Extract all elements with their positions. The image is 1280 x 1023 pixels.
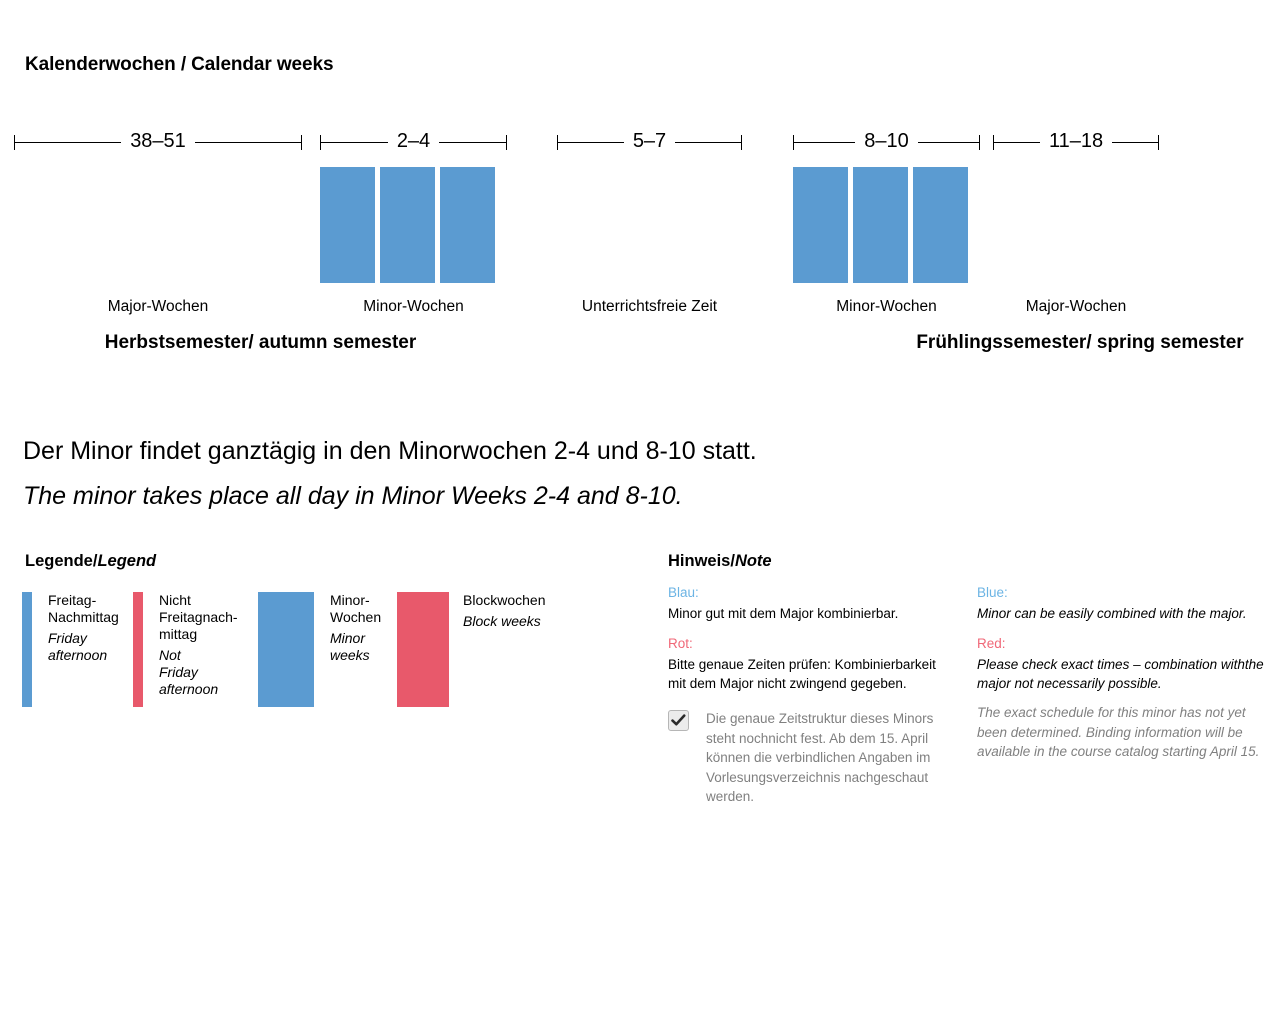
legend-label-english: Minor <box>330 630 381 647</box>
minor-week-block <box>320 167 375 283</box>
week-range-bracket: 11–18 <box>993 130 1159 154</box>
bracket-cap-right <box>1158 135 1159 150</box>
legend-item: BlockwochenBlock weeks <box>397 592 517 707</box>
minor-week-block <box>380 167 435 283</box>
note-heading-german: Hinweis/ <box>668 552 735 570</box>
bracket-cap-right <box>506 135 507 150</box>
week-range-bracket: 8–10 <box>793 130 980 154</box>
bracket-rule-left <box>994 142 1040 143</box>
bracket-rule-left <box>321 142 388 143</box>
legend-label-german: Nicht <box>159 592 238 609</box>
legend-item-text: Freitag-NachmittagFridayafternoon <box>48 592 119 664</box>
note-blue-body-german: Minor gut mit dem Major kombinierbar. <box>668 604 936 623</box>
week-range-label: 38–51 <box>121 131 195 151</box>
week-range-label: 5–7 <box>624 131 675 151</box>
legend-label-english: Not <box>159 647 238 664</box>
semester-label: Frühlingssemester/ spring semester <box>700 332 1280 354</box>
semester-label: Herbstsemester/ autumn semester <box>14 332 507 354</box>
legend-heading: Legende/Legend <box>25 552 156 571</box>
timeline-group-5: 11–18Major-Wochen <box>993 130 1159 154</box>
legend-item-text: BlockwochenBlock weeks <box>463 592 546 630</box>
page-title: Kalenderwochen / Calendar weeks <box>25 54 333 76</box>
timeline-group-2: 2–4Minor-Wochen <box>320 130 507 154</box>
week-range-label: 8–10 <box>855 131 918 151</box>
minor-week-block <box>440 167 495 283</box>
legend-color-swatch <box>22 592 32 707</box>
legend-label-german: mittag <box>159 626 238 643</box>
legend-color-swatch <box>133 592 143 707</box>
legend-item: Freitag-NachmittagFridayafternoon <box>22 592 142 707</box>
note-blue-key-german: Blau: <box>668 584 936 602</box>
note-red-body-english: Please check exact times – combination w… <box>977 655 1267 693</box>
legend-item: NichtFreitagnach-mittagNotFridayafternoo… <box>133 592 253 707</box>
bracket-rule-right <box>918 142 979 143</box>
schedule-pending-text-german: Die genaue Zeitstruktur dieses Minors st… <box>706 709 943 807</box>
bracket-rule-right <box>675 142 741 143</box>
schedule-pending-checkbox[interactable] <box>668 710 689 731</box>
legend-heading-english: Legend <box>97 552 156 570</box>
legend-label-english: afternoon <box>159 681 238 698</box>
week-range-label: 11–18 <box>1040 131 1112 151</box>
statement-german: Der Minor findet ganztägig in den Minorw… <box>23 437 757 466</box>
note-red-body-german: Bitte genaue Zeiten prüfen: Kombinierbar… <box>668 655 936 693</box>
legend-heading-german: Legende/ <box>25 552 97 570</box>
check-icon <box>671 714 686 727</box>
legend-label-english: weeks <box>330 647 381 664</box>
bracket-cap-right <box>741 135 742 150</box>
note-blue-body-english: Minor can be easily combined with the ma… <box>977 604 1267 623</box>
bracket-rule-right <box>1112 142 1158 143</box>
bracket-rule-left <box>794 142 855 143</box>
note-column-english: Blue: Minor can be easily combined with … <box>977 584 1267 705</box>
legend-label-german: Wochen <box>330 609 381 626</box>
legend-label-english: Friday <box>159 664 238 681</box>
bracket-rule-right <box>195 142 301 143</box>
phase-label: Unterrichtsfreie Zeit <box>557 298 742 316</box>
week-range-bracket: 5–7 <box>557 130 742 154</box>
week-range-bracket: 2–4 <box>320 130 507 154</box>
minor-week-block <box>793 167 848 283</box>
note-red-key-german: Rot: <box>668 635 936 653</box>
minor-week-blocks <box>793 167 968 283</box>
legend-label-german: Minor- <box>330 592 381 609</box>
note-heading: Hinweis/Note <box>668 552 772 571</box>
minor-week-block <box>913 167 968 283</box>
phase-label: Minor-Wochen <box>320 298 507 316</box>
phase-label: Major-Wochen <box>993 298 1159 316</box>
legend-label-german: Freitag- <box>48 592 119 609</box>
bracket-cap-right <box>979 135 980 150</box>
legend-label-english: Friday <box>48 630 119 647</box>
legend-label-english: Block weeks <box>463 613 546 630</box>
legend-label-german: Freitagnach- <box>159 609 238 626</box>
phase-label: Minor-Wochen <box>793 298 980 316</box>
note-blue-key-english: Blue: <box>977 584 1267 602</box>
phase-label: Major-Wochen <box>14 298 302 316</box>
statement-english: The minor takes place all day in Minor W… <box>23 482 683 511</box>
legend-label-german: Blockwochen <box>463 592 546 609</box>
bracket-rule-right <box>439 142 506 143</box>
legend-item-text: Minor-WochenMinorweeks <box>330 592 381 664</box>
note-red-key-english: Red: <box>977 635 1267 653</box>
note-column-german: Blau: Minor gut mit dem Major kombinierb… <box>668 584 936 705</box>
timeline-group-1: 38–51Major-Wochen <box>14 130 302 154</box>
minor-week-block <box>853 167 908 283</box>
bracket-rule-left <box>15 142 121 143</box>
bracket-cap-right <box>301 135 302 150</box>
calendar-weeks-timeline: 38–51Major-Wochen2–4Minor-Wochen5–7Unter… <box>0 130 1280 360</box>
legend-label-english: afternoon <box>48 647 119 664</box>
bracket-rule-left <box>558 142 624 143</box>
schedule-pending-text-english: The exact schedule for this minor has no… <box>977 703 1267 762</box>
note-heading-english: Note <box>735 552 772 570</box>
week-range-label: 2–4 <box>388 131 439 151</box>
legend-label-german: Nachmittag <box>48 609 119 626</box>
legend-color-swatch <box>258 592 314 707</box>
week-range-bracket: 38–51 <box>14 130 302 154</box>
legend-item-text: NichtFreitagnach-mittagNotFridayafternoo… <box>159 592 238 698</box>
schedule-pending-note-german: Die genaue Zeitstruktur dieses Minors st… <box>668 709 943 807</box>
legend-color-swatch <box>397 592 449 707</box>
minor-week-blocks <box>320 167 495 283</box>
timeline-group-3: 5–7Unterrichtsfreie Zeit <box>557 130 742 154</box>
legend-item: Minor-WochenMinorweeks <box>258 592 378 707</box>
timeline-group-4: 8–10Minor-Wochen <box>793 130 980 154</box>
